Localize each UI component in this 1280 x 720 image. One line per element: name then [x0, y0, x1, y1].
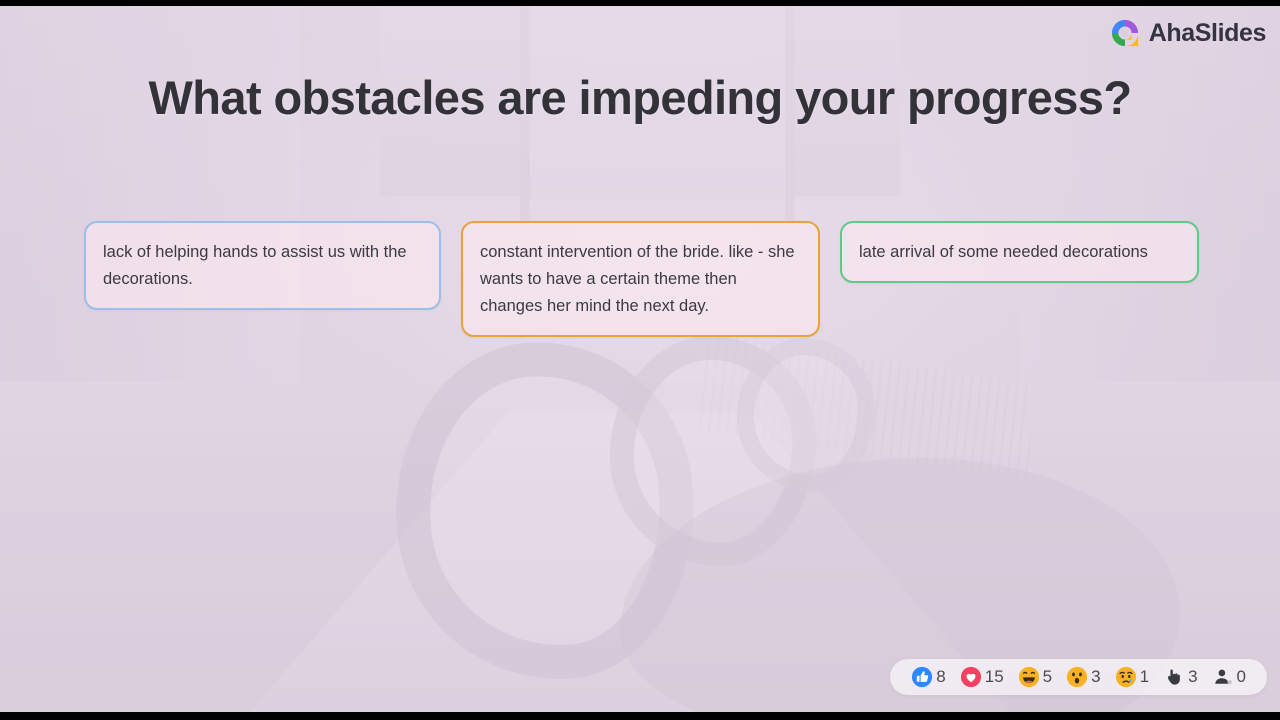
reaction-count: 1	[1140, 667, 1149, 687]
heart-icon	[960, 666, 982, 688]
reaction-count: 5	[1043, 667, 1052, 687]
reaction-wow[interactable]: 3	[1059, 666, 1107, 688]
participants-count[interactable]: 0	[1205, 666, 1253, 688]
answer-card: constant intervention of the bride. like…	[461, 221, 820, 337]
reaction-haha[interactable]: 5	[1011, 666, 1059, 688]
crying-face-icon	[1115, 666, 1137, 688]
reactions-bar[interactable]: 8 15	[890, 659, 1267, 695]
reaction-count: 3	[1188, 667, 1197, 687]
ahaslides-circle-logo-icon	[1110, 18, 1140, 48]
reaction-raise-hand[interactable]: 3	[1156, 666, 1204, 688]
reaction-count: 8	[936, 667, 945, 687]
reaction-sad[interactable]: 1	[1108, 666, 1156, 688]
answer-card: lack of helping hands to assist us with …	[84, 221, 441, 310]
reaction-count: 3	[1091, 667, 1100, 687]
reaction-like[interactable]: 8	[904, 666, 952, 688]
raised-hand-icon	[1163, 666, 1185, 688]
reaction-count: 0	[1237, 667, 1246, 687]
thumbs-up-icon	[911, 666, 933, 688]
grinning-face-icon	[1018, 666, 1040, 688]
presentation-slide: AhaSlides What obstacles are impeding yo…	[0, 6, 1280, 712]
slide-stage: AhaSlides What obstacles are impeding yo…	[0, 0, 1280, 720]
person-icon	[1212, 666, 1234, 688]
reaction-love[interactable]: 15	[953, 666, 1011, 688]
answer-cards-list: lack of helping hands to assist us with …	[84, 221, 1199, 337]
ahaslides-logo: AhaSlides	[1110, 18, 1266, 48]
reaction-count: 15	[985, 667, 1004, 687]
answer-card: late arrival of some needed decorations	[840, 221, 1199, 283]
brand-wordmark: AhaSlides	[1149, 19, 1266, 48]
slide-title: What obstacles are impeding your progres…	[0, 70, 1280, 125]
surprised-face-icon	[1066, 666, 1088, 688]
